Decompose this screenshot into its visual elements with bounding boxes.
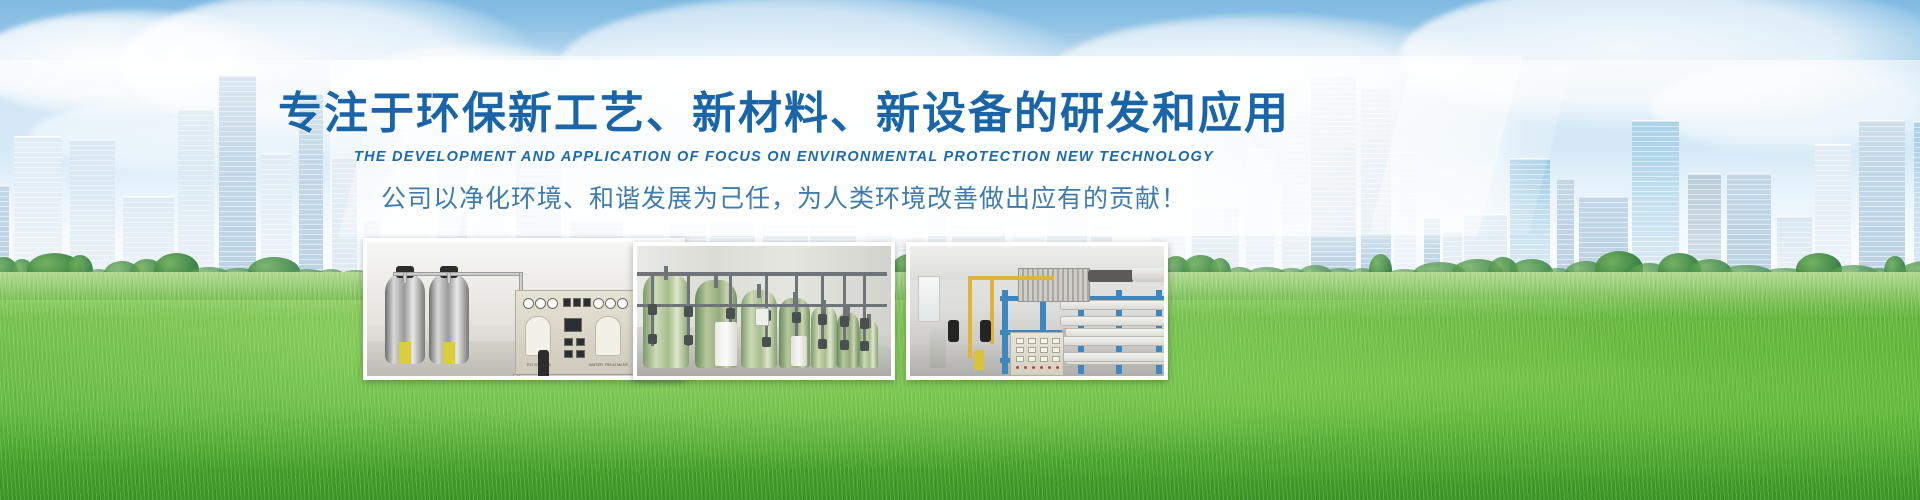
button (564, 338, 573, 346)
membrane-vessel (1060, 336, 1164, 346)
header-pipe (637, 304, 887, 307)
button (564, 350, 573, 358)
photo-inner (910, 246, 1164, 376)
brine-tank (791, 336, 807, 366)
indicator-light (1040, 366, 1043, 369)
valve (840, 316, 849, 327)
panel-button (1028, 338, 1036, 344)
label-plate (595, 316, 621, 356)
photo-reverse-osmosis-membrane-plant[interactable] (906, 242, 1168, 380)
panel-button (1040, 347, 1048, 353)
panel-button (1052, 347, 1060, 353)
frp-filter-vessel (741, 290, 777, 368)
indicator-light (1016, 366, 1019, 369)
drop-pipe (821, 276, 824, 346)
riser-pipe (714, 274, 718, 288)
valve (726, 308, 735, 319)
pump (538, 350, 549, 376)
indicator-light (573, 298, 581, 307)
indicator-light (1024, 366, 1027, 369)
panel-button (1028, 356, 1036, 362)
nameplate-text: WATER TREATMENT (589, 362, 628, 367)
skid-frame (513, 374, 639, 376)
cartridge-filter (930, 328, 946, 368)
yellow-drum (974, 350, 984, 370)
button (576, 338, 585, 346)
dosing-pump (980, 320, 991, 342)
hero-banner: 专注于环保新工艺、新材料、新设备的研发和应用 THE DEVELOPMENT A… (0, 0, 1920, 500)
tagline: 公司以净化环境、和谐发展为己任，为人类环境改善做出应有的贡献！ (0, 179, 1568, 215)
tank-foot (399, 342, 411, 364)
valve (684, 335, 693, 345)
photo-frp-filter-vessel-row[interactable] (633, 242, 895, 380)
indicator-light (563, 298, 571, 307)
photo-strip: RO SYSTEMWATER TREATMENT (0, 238, 1568, 418)
panel-button (1028, 347, 1036, 353)
riser-pipe (757, 284, 761, 298)
indicator-light (1032, 366, 1035, 369)
brine-tank (715, 322, 737, 366)
rack-post (1002, 290, 1008, 374)
button (576, 350, 585, 358)
dosing-pump (948, 320, 959, 342)
valve (818, 339, 827, 349)
scene-ro-plant (910, 246, 1164, 376)
valve (762, 337, 771, 347)
valve (792, 312, 801, 323)
valve (684, 306, 693, 317)
pressure-gauge (523, 298, 534, 309)
pressure-gauge (547, 298, 558, 309)
panel-button (1052, 338, 1060, 344)
cartridge-bank (1018, 268, 1090, 302)
tank-foot (443, 342, 455, 364)
indicator-light (583, 298, 591, 307)
panel-button (1040, 356, 1048, 362)
control-box (755, 308, 769, 326)
yellow-pipe (968, 276, 972, 358)
valve (840, 340, 849, 350)
pipe (403, 272, 407, 284)
drop-pipe (843, 276, 846, 346)
headline: 专注于环保新工艺、新材料、新设备的研发和应用 (0, 88, 1568, 140)
overhead-duct (1088, 270, 1134, 282)
membrane-vessel (1060, 316, 1164, 326)
valve (860, 341, 869, 351)
pressure-gauge (617, 298, 628, 309)
skid-leg (517, 374, 520, 376)
panel-button (1016, 356, 1024, 362)
panel-button (1052, 356, 1060, 362)
valve (860, 318, 869, 329)
header-pipe (637, 272, 887, 276)
banner-copy: 专注于环保新工艺、新材料、新设备的研发和应用 THE DEVELOPMENT A… (0, 88, 1568, 215)
pipe (393, 272, 523, 276)
pipe (447, 272, 451, 284)
indicator-light (1056, 366, 1059, 369)
display-screen (564, 318, 582, 332)
valve (648, 304, 657, 315)
pressure-gauge (535, 298, 546, 309)
valve (818, 314, 827, 325)
panel-button (1040, 338, 1048, 344)
pressure-gauge (593, 298, 604, 309)
scene-frp-vessels (637, 246, 891, 376)
yellow-pipe (968, 276, 1054, 280)
window (918, 276, 940, 322)
drop-pipe (863, 276, 866, 346)
panel-button (1016, 338, 1024, 344)
indicator-light (1048, 366, 1051, 369)
membrane-vessel (1060, 352, 1164, 362)
panel-button (1016, 347, 1024, 353)
frp-filter-vessel (643, 272, 689, 368)
pressure-gauge (605, 298, 616, 309)
overhead-tank (1132, 268, 1164, 282)
valve (648, 334, 657, 344)
photo-inner (637, 246, 891, 376)
sub-headline: THE DEVELOPMENT AND APPLICATION OF FOCUS… (0, 149, 1568, 165)
